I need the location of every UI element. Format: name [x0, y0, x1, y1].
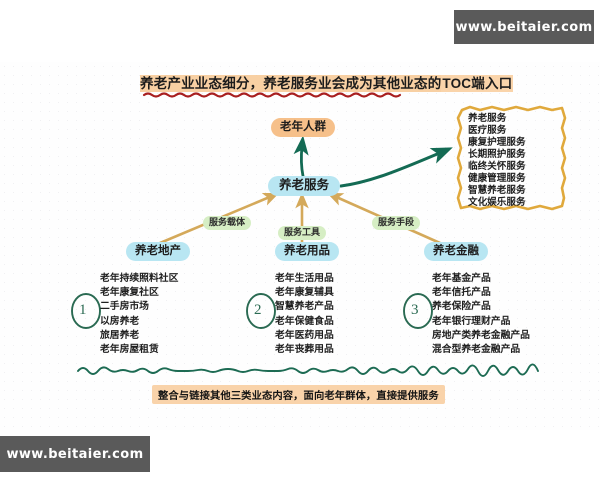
diagram-canvas: www.beitaier.com www.beitaier.com 养老产业业态… — [0, 0, 600, 480]
list-item: 老年信托产品 — [432, 286, 530, 300]
service-type-item: 智慧养老服务 — [468, 185, 526, 197]
list-item: 二手房市场 — [100, 300, 178, 314]
marker-number-1: 1 — [79, 302, 87, 319]
list-item: 老年银行理财产品 — [432, 315, 530, 329]
list-item: 老年房屋租赁 — [100, 343, 178, 357]
marker-number-3: 3 — [411, 302, 419, 319]
node-elderly-service[interactable]: 养老服务 — [268, 176, 340, 196]
watermark-top: www.beitaier.com — [454, 10, 594, 44]
list-item: 旅居养老 — [100, 329, 178, 343]
node-elderly-group[interactable]: 老年人群 — [271, 118, 335, 137]
list-item: 老年丧葬用品 — [275, 343, 334, 357]
bottom-caption: 整合与链接其他三类业态内容，面向老年群体，直接提供服务 — [152, 385, 445, 404]
service-type-item: 医疗服务 — [468, 125, 526, 137]
service-type-item: 文化娱乐服务 — [468, 197, 526, 209]
detail-list-real-estate: 老年持续照料社区 老年康复社区 二手房市场 以房养老 旅居养老 老年房屋租赁 — [100, 272, 178, 357]
node-finance[interactable]: 养老金融 — [424, 242, 488, 261]
title-text-highlight: TOC端入口 — [441, 75, 513, 92]
list-item: 以房养老 — [100, 315, 178, 329]
list-item: 老年医药用品 — [275, 329, 334, 343]
service-type-item: 康复护理服务 — [468, 137, 526, 149]
service-type-list: 养老服务 医疗服务 康复护理服务 长期照护服务 临终关怀服务 健康管理服务 智慧… — [468, 113, 526, 209]
list-item: 混合型养老金融产品 — [432, 343, 530, 357]
service-type-item: 临终关怀服务 — [468, 161, 526, 173]
detail-list-products: 老年生活用品 老年康复辅具 智慧养老产品 老年保健食品 老年医药用品 老年丧葬用… — [275, 272, 334, 357]
list-item: 老年基金产品 — [432, 272, 530, 286]
list-item: 老年康复社区 — [100, 286, 178, 300]
list-item: 老年生活用品 — [275, 272, 334, 286]
diagram-title: 养老产业业态细分，养老服务业会成为其他业态的TOC端入口 — [140, 72, 513, 92]
list-item: 老年持续照料社区 — [100, 272, 178, 286]
service-type-item: 养老服务 — [468, 113, 526, 125]
list-item: 老年保健食品 — [275, 315, 334, 329]
service-type-item: 长期照护服务 — [468, 149, 526, 161]
node-real-estate[interactable]: 养老地产 — [126, 242, 190, 261]
list-item: 房地产类养老金融产品 — [432, 329, 530, 343]
list-item: 智慧养老产品 — [275, 300, 334, 314]
service-type-item: 健康管理服务 — [468, 173, 526, 185]
list-item: 养老保险产品 — [432, 300, 530, 314]
list-item: 老年康复辅具 — [275, 286, 334, 300]
edge-label-tool: 服务工具 — [278, 226, 326, 240]
watermark-bottom: www.beitaier.com — [0, 436, 150, 472]
detail-list-finance: 老年基金产品 老年信托产品 养老保险产品 老年银行理财产品 房地产类养老金融产品… — [432, 272, 530, 357]
marker-number-2: 2 — [254, 302, 262, 319]
service-type-panel: 养老服务 医疗服务 康复护理服务 长期照护服务 临终关怀服务 健康管理服务 智慧… — [458, 107, 586, 209]
node-products[interactable]: 养老用品 — [275, 242, 339, 261]
edge-label-carrier: 服务载体 — [203, 216, 251, 230]
edge-label-means: 服务手段 — [372, 216, 420, 230]
title-text-plain: 养老产业业态细分，养老服务业会成为其他业态的 — [140, 75, 441, 92]
